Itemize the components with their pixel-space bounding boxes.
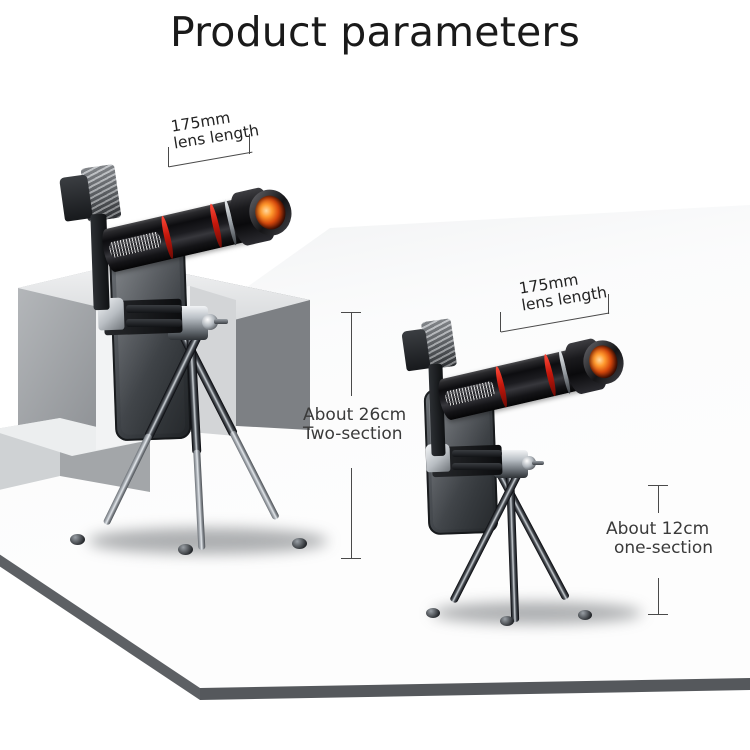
left-telephoto-lens bbox=[97, 180, 296, 281]
right-height-dimension-line-upper bbox=[658, 485, 659, 513]
right-height-caption: one-section bbox=[606, 539, 713, 558]
right-clip-arm bbox=[452, 450, 502, 457]
left-height-tick-bottom bbox=[341, 558, 361, 559]
left-tripod-foot-back bbox=[70, 534, 85, 545]
right-lens-length-tick-end bbox=[608, 294, 609, 314]
left-height-caption: Two-section bbox=[303, 425, 406, 444]
left-lens-clip-body bbox=[59, 174, 93, 221]
left-product-assembly bbox=[0, 0, 360, 620]
left-lens-length-tick-start bbox=[168, 147, 169, 167]
left-ball-head-screw bbox=[214, 319, 228, 324]
right-height-value: About 12cm bbox=[606, 520, 713, 539]
left-height-value: About 26cm bbox=[303, 406, 406, 425]
right-telephoto-lens bbox=[433, 330, 631, 429]
right-lens-length-tick-start bbox=[500, 312, 501, 332]
left-height-dimension-line-upper bbox=[351, 312, 352, 396]
left-height-label: About 26cm Two-section bbox=[303, 406, 406, 444]
left-lens-length-tick-end bbox=[249, 134, 250, 154]
left-clip-arm-lower bbox=[126, 319, 182, 327]
left-height-dimension-line-lower bbox=[351, 468, 352, 558]
right-assembly-shadow bbox=[432, 602, 642, 624]
scene: 175mm lens length 175mm lens length Abou… bbox=[0, 0, 750, 750]
right-tripod-foot-mid bbox=[500, 616, 514, 626]
right-height-dimension-line-lower bbox=[658, 578, 659, 614]
right-height-label: About 12cm one-section bbox=[606, 520, 713, 558]
left-tripod-foot-mid bbox=[178, 544, 193, 555]
right-height-tick-bottom bbox=[648, 614, 668, 615]
right-product-assembly bbox=[398, 0, 698, 660]
left-clip-arm bbox=[126, 305, 182, 313]
right-ball-head-screw bbox=[532, 461, 544, 465]
right-tripod-foot-front bbox=[578, 610, 592, 620]
right-clip-arm-lower bbox=[452, 463, 502, 470]
product-parameters-image: Product parameters bbox=[0, 0, 750, 750]
left-tripod-foot-front bbox=[292, 538, 307, 549]
right-tripod-foot-back bbox=[426, 608, 440, 618]
